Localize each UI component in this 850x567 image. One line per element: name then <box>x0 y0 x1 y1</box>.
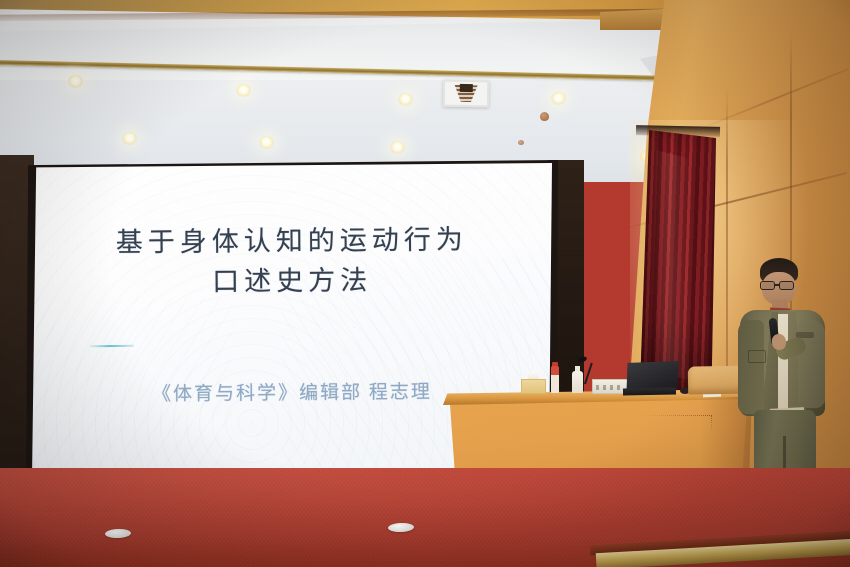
tissue-box <box>521 379 546 394</box>
ceiling-speaker-icon <box>540 112 549 121</box>
ceiling-light <box>122 132 137 145</box>
vent-shaft <box>460 84 473 92</box>
speaker-arm-left <box>738 320 764 414</box>
hvac-vent-icon <box>443 80 489 108</box>
laptop-keyboard[interactable] <box>623 388 676 396</box>
ceiling-light <box>551 92 566 105</box>
curtain-sheen <box>652 150 692 380</box>
glasses-lens-left <box>760 281 775 290</box>
ceiling-light <box>259 136 274 149</box>
ceiling-light <box>236 84 251 97</box>
lecture-hall-photo: 基于身体认知的运动行为 口述史方法 《体育与科学》编辑部 程志理 <box>0 0 850 567</box>
slide-title: 基于身体认知的运动行为 口述史方法 <box>32 219 552 304</box>
slide-title-line-2: 口述史方法 <box>32 259 552 304</box>
ceiling-light <box>390 141 405 154</box>
av-control-buttons[interactable] <box>596 385 624 390</box>
white-bottle <box>572 371 583 393</box>
ceiling-light <box>68 75 83 88</box>
laptop-screen[interactable] <box>627 361 679 391</box>
ceiling-light <box>398 93 413 106</box>
slide-divider-rule <box>90 345 134 347</box>
glasses-lens-right <box>779 281 794 290</box>
red-bottle <box>551 366 559 393</box>
slide-title-line-1: 基于身体认知的运动行为 <box>32 219 552 264</box>
jacket-pocket <box>748 350 766 363</box>
ceiling-sensor-icon <box>518 140 524 145</box>
glasses-icon <box>760 281 798 290</box>
